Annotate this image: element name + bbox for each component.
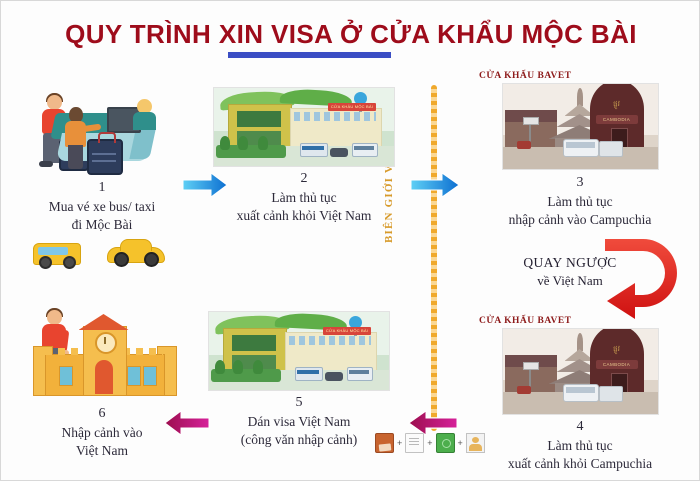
step-4: CỬA KHẨU BAVET ផ្លូវ CAMBODIA 4 Làm thủ …	[463, 316, 697, 473]
bus-icon	[33, 243, 81, 265]
step-caption-line1: Làm thủ tục	[463, 193, 697, 211]
step-caption-line1: Dán visa Việt Nam	[201, 413, 397, 431]
step-number: 4	[463, 419, 697, 436]
vietnam-border-gate-photo: CỬA KHẨU MỘC BÀI	[208, 311, 390, 391]
khmer-script: ផ្លូវ	[604, 100, 630, 110]
page-title: QUY TRÌNH XIN VISA Ở CỬA KHẨU MỘC BÀI	[1, 19, 700, 50]
border-dotted-line	[431, 85, 437, 431]
step-caption-line2: xuất cảnh khỏi Việt Nam	[206, 207, 402, 225]
step-number: 6	[9, 406, 195, 423]
step-number: 3	[463, 175, 697, 192]
step-number: 1	[9, 180, 195, 197]
step-caption-line2: nhập cảnh vào Campuchia	[463, 211, 697, 229]
plus-sign: +	[427, 438, 432, 448]
transport-icons	[15, 239, 190, 269]
step-1: 1 Mua vé xe bus/ taxi đi Mộc Bài	[9, 85, 195, 269]
vietnam-border-gate-photo: CỬA KHẨU MỘC BÀI	[213, 87, 395, 167]
step-caption-line1: Nhập cảnh vào	[9, 424, 195, 442]
form-icon	[405, 433, 424, 453]
step-6: 6 Nhập cảnh vào Việt Nam	[9, 306, 195, 460]
step-3: CỬA KHẨU BAVET ផ្លូវ CAMBODIA 3 Làm thủ …	[463, 71, 697, 229]
cambodia-border-gate-photo: ផ្លូវ CAMBODIA	[502, 328, 659, 415]
step-number: 2	[206, 171, 402, 188]
step-caption-line1: Mua vé xe bus/ taxi	[9, 198, 195, 216]
gate-sign-text: CỬA KHẨU MỘC BÀI	[323, 327, 371, 335]
step-2: CỬA KHẨU MỘC BÀI 2 Làm thủ tục xuất cảnh…	[206, 87, 402, 225]
step-caption-line2: (công văn nhập cảnh)	[201, 431, 397, 449]
cambodia-plate: CAMBODIA	[596, 360, 638, 369]
cambodia-border-gate-photo: ផ្លូវ CAMBODIA	[502, 83, 659, 170]
step-caption-line1: Làm thủ tục	[206, 189, 402, 207]
clock-icon	[95, 332, 117, 354]
ticket-counter-illustration	[15, 85, 190, 180]
step-number: 5	[201, 395, 397, 412]
ben-thanh-market-illustration	[15, 306, 190, 406]
step-caption-line1: Làm thủ tục	[463, 437, 697, 455]
gate-sign: CỬA KHẨU MỘC BÀI	[323, 327, 371, 335]
cambodia-plate: CAMBODIA	[596, 115, 638, 124]
gate-sign-text: CỬA KHẨU MỘC BÀI	[328, 103, 376, 111]
plus-sign: +	[397, 438, 402, 448]
uturn-line2: về Việt Nam	[511, 273, 629, 289]
cambodia-gate-label: CỬA KHẨU BAVET	[463, 71, 697, 81]
suitcase-icon	[87, 139, 123, 175]
step-caption-line2: xuất cảnh khỏi Campuchia	[463, 455, 697, 473]
infographic-canvas: QUY TRÌNH XIN VISA Ở CỬA KHẨU MỘC BÀI BI…	[0, 0, 700, 481]
title-underline	[228, 52, 391, 58]
cambodia-gate-label: CỬA KHẨU BAVET	[463, 316, 697, 326]
khmer-script: ផ្លូវ	[604, 345, 630, 355]
taxi-icon	[107, 247, 165, 263]
step-caption-line2: đi Mộc Bài	[9, 216, 195, 234]
step-caption-line2: Việt Nam	[9, 442, 195, 460]
step-5: CỬA KHẨU MỘC BÀI 5 Dán visa Việt Nam (cô…	[201, 311, 397, 449]
uturn-text: QUAY NGƯỢC về Việt Nam	[511, 255, 629, 289]
photo-icon	[466, 433, 485, 453]
gate-sign: CỬA KHẨU MỘC BÀI	[328, 103, 376, 111]
uturn-line1: QUAY NGƯỢC	[511, 255, 629, 271]
plus-sign: +	[458, 438, 463, 448]
arrow-step2-to-step3	[409, 171, 461, 199]
money-icon	[436, 433, 455, 453]
